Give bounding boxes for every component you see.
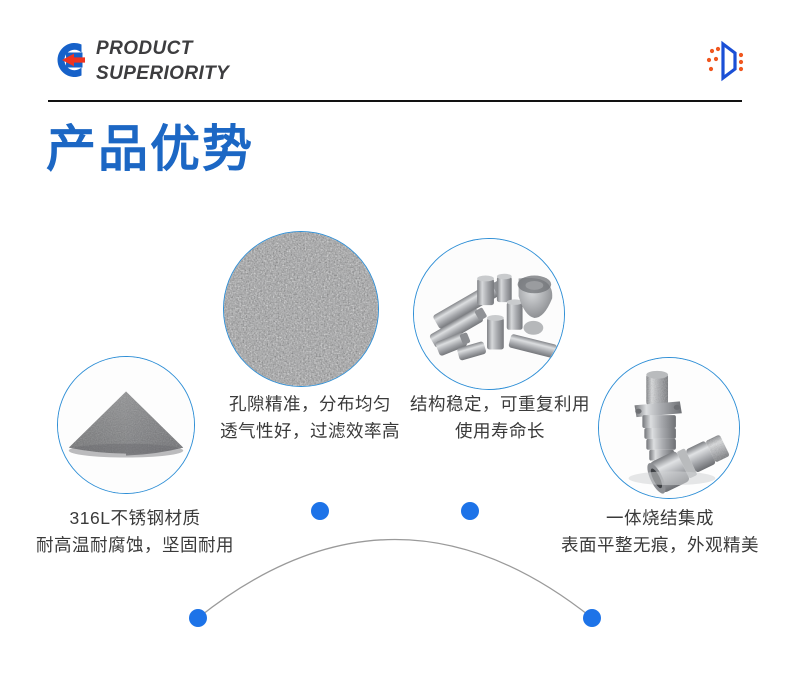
- feature-caption-porous-line1: 孔隙精准，分布均匀: [205, 391, 415, 418]
- feature-image-parts: [413, 238, 565, 390]
- feature-caption-parts: 结构稳定，可重复利用 使用寿命长: [400, 391, 600, 445]
- feature-caption-fitting-line2: 表面平整无痕，外观精美: [535, 532, 785, 559]
- sintered-porous-surface-photo: [224, 232, 378, 386]
- header-english-line1: PRODUCT: [96, 38, 193, 59]
- feature-caption-parts-line1: 结构稳定，可重复利用: [400, 391, 600, 418]
- metal-powder-cone-photo: [58, 357, 194, 493]
- feature-caption-fitting-line1: 一体烧结集成: [535, 505, 785, 532]
- arc-dot-left-end: [189, 609, 207, 627]
- arc-dot-left-mid: [311, 502, 329, 520]
- feature-caption-porous-line2: 透气性好，过滤效率高: [205, 418, 415, 445]
- feature-image-powder: [57, 356, 195, 494]
- feature-caption-powder-line2: 耐高温耐腐蚀，坚固耐用: [10, 532, 260, 559]
- feature-caption-powder: 316L不锈钢材质 耐高温耐腐蚀，坚固耐用: [10, 505, 260, 559]
- feature-image-porous: [223, 231, 379, 387]
- filter-cartridges-group-photo: [414, 239, 564, 389]
- arc-dot-right-mid: [461, 502, 479, 520]
- header-english-title: PRODUCT SUPERIORITY: [96, 36, 229, 86]
- brand-c-arrow-logo: [47, 35, 93, 85]
- product-superiority-page: PRODUCT SUPERIORITY 产品优势: [0, 0, 790, 682]
- play-dots-mark-icon: [703, 40, 747, 82]
- feature-caption-powder-line1: 316L不锈钢材质: [10, 505, 260, 532]
- page-header: PRODUCT SUPERIORITY: [0, 0, 790, 108]
- sintered-fitting-assembly-photo: [599, 358, 739, 498]
- feature-caption-parts-line2: 使用寿命长: [400, 418, 600, 445]
- page-title: 产品优势: [46, 119, 254, 179]
- feature-image-fitting: [598, 357, 740, 499]
- feature-caption-porous: 孔隙精准，分布均匀 透气性好，过滤效率高: [205, 391, 415, 445]
- header-divider: [48, 100, 742, 102]
- header-english-line2: SUPERIORITY: [96, 61, 229, 86]
- arc-dot-right-end: [583, 609, 601, 627]
- feature-caption-fitting: 一体烧结集成 表面平整无痕，外观精美: [535, 505, 785, 559]
